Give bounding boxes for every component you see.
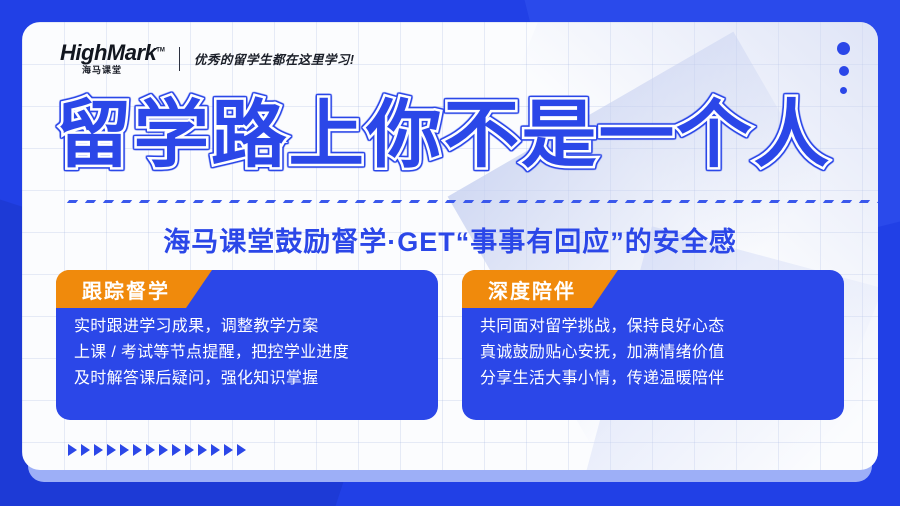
logo-wordmark-text: HighMark bbox=[60, 40, 156, 65]
dash-icon bbox=[877, 200, 878, 203]
trademark-icon: TM bbox=[156, 48, 165, 54]
feature-card-line: 分享生活大事小情，传递温暖陪伴 bbox=[480, 366, 826, 392]
dash-icon bbox=[427, 200, 438, 203]
dash-icon bbox=[301, 200, 312, 203]
arrow-right-icon bbox=[120, 444, 129, 456]
dash-icon bbox=[517, 200, 528, 203]
dash-icon bbox=[229, 200, 240, 203]
feature-card-line: 真诚鼓励贴心安抚，加满情绪价值 bbox=[480, 340, 826, 366]
dash-icon bbox=[535, 200, 546, 203]
arrow-right-icon bbox=[237, 444, 246, 456]
dash-icon bbox=[463, 200, 474, 203]
feature-card-line: 实时跟进学习成果，调整教学方案 bbox=[74, 314, 420, 340]
dot-medium-icon bbox=[839, 66, 849, 76]
dash-icon bbox=[841, 200, 852, 203]
dash-icon bbox=[193, 200, 204, 203]
page-title: 留学路上你不是一个人 bbox=[56, 98, 872, 172]
dash-icon bbox=[355, 200, 366, 203]
dash-icon bbox=[697, 200, 708, 203]
dash-icon bbox=[499, 200, 510, 203]
dash-icon bbox=[571, 200, 582, 203]
arrow-right-icon bbox=[211, 444, 220, 456]
logo: HighMarkTM 海马课堂 bbox=[60, 42, 165, 75]
dashed-separator bbox=[68, 194, 858, 208]
dash-icon bbox=[445, 200, 456, 203]
dash-icon bbox=[139, 200, 150, 203]
arrow-right-icon bbox=[185, 444, 194, 456]
dash-icon bbox=[553, 200, 564, 203]
feature-card-line: 共同面对留学挑战，保持良好心态 bbox=[480, 314, 826, 340]
logo-subtext: 海马课堂 bbox=[82, 66, 122, 75]
dash-icon bbox=[823, 200, 834, 203]
arrow-right-icon bbox=[172, 444, 181, 456]
dash-icon bbox=[247, 200, 258, 203]
dash-icon bbox=[175, 200, 186, 203]
arrow-right-icon bbox=[224, 444, 233, 456]
content-panel: HighMarkTM 海马课堂 优秀的留学生都在这里学习! 留学路上你不是一个人… bbox=[22, 22, 878, 470]
dash-icon bbox=[337, 200, 348, 203]
feature-card-line: 及时解答课后疑问，强化知识掌握 bbox=[74, 366, 420, 392]
arrow-right-icon bbox=[198, 444, 207, 456]
dot-small-icon bbox=[840, 87, 847, 94]
arrow-strip bbox=[68, 444, 246, 456]
dash-icon bbox=[769, 200, 780, 203]
feature-card: 实时跟进学习成果，调整教学方案 上课 / 考试等节点提醒，把控学业进度 及时解答… bbox=[56, 270, 438, 420]
arrow-right-icon bbox=[94, 444, 103, 456]
dash-icon bbox=[211, 200, 222, 203]
dash-icon bbox=[67, 200, 78, 203]
dash-icon bbox=[643, 200, 654, 203]
page-subtitle: 海马课堂鼓励督学·GET“事事有回应”的安全感 bbox=[22, 220, 878, 259]
dash-icon bbox=[787, 200, 798, 203]
corner-dots bbox=[837, 42, 850, 94]
dash-icon bbox=[751, 200, 762, 203]
dash-icon bbox=[805, 200, 816, 203]
dash-icon bbox=[481, 200, 492, 203]
dot-large-icon bbox=[837, 42, 850, 55]
dash-icon bbox=[589, 200, 600, 203]
brand-header: HighMarkTM 海马课堂 优秀的留学生都在这里学习! bbox=[60, 42, 355, 75]
divider bbox=[179, 47, 180, 71]
dash-icon bbox=[85, 200, 96, 203]
arrow-right-icon bbox=[68, 444, 77, 456]
dash-icon bbox=[121, 200, 132, 203]
arrow-right-icon bbox=[146, 444, 155, 456]
dash-icon bbox=[319, 200, 330, 203]
feature-card: 共同面对留学挑战，保持良好心态 真诚鼓励贴心安抚，加满情绪价值 分享生活大事小情… bbox=[462, 270, 844, 420]
feature-card-tab: 深度陪伴 bbox=[462, 270, 618, 308]
promo-banner: HighMarkTM 海马课堂 优秀的留学生都在这里学习! 留学路上你不是一个人… bbox=[0, 0, 900, 506]
dash-icon bbox=[733, 200, 744, 203]
arrow-right-icon bbox=[159, 444, 168, 456]
feature-card-tab: 跟踪督学 bbox=[56, 270, 212, 308]
arrow-right-icon bbox=[133, 444, 142, 456]
brand-tagline: 优秀的留学生都在这里学习! bbox=[194, 49, 355, 68]
dash-icon bbox=[283, 200, 294, 203]
dash-icon bbox=[679, 200, 690, 203]
dash-icon bbox=[157, 200, 168, 203]
dash-icon bbox=[859, 200, 870, 203]
dash-icon bbox=[409, 200, 420, 203]
dash-icon bbox=[103, 200, 114, 203]
dash-icon bbox=[373, 200, 384, 203]
dash-icon bbox=[265, 200, 276, 203]
feature-cards: 实时跟进学习成果，调整教学方案 上课 / 考试等节点提醒，把控学业进度 及时解答… bbox=[56, 270, 844, 420]
dash-icon bbox=[661, 200, 672, 203]
panel-content: HighMarkTM 海马课堂 优秀的留学生都在这里学习! 留学路上你不是一个人… bbox=[22, 22, 878, 470]
dash-icon bbox=[391, 200, 402, 203]
logo-wordmark: HighMarkTM bbox=[60, 42, 165, 64]
dash-icon bbox=[607, 200, 618, 203]
dash-icon bbox=[625, 200, 636, 203]
dash-icon bbox=[715, 200, 726, 203]
feature-card-line: 上课 / 考试等节点提醒，把控学业进度 bbox=[74, 340, 420, 366]
arrow-right-icon bbox=[107, 444, 116, 456]
arrow-right-icon bbox=[81, 444, 90, 456]
